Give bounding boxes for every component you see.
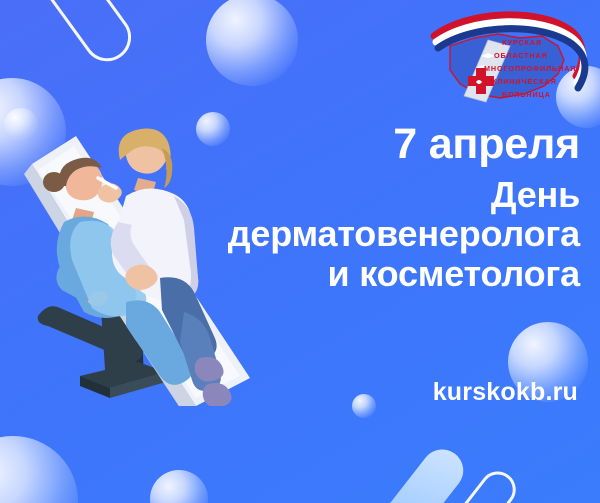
capsule-fill-bottom: [346, 441, 471, 503]
logo-line-1: КУРСКАЯ: [502, 38, 542, 47]
capsule-outline-top: [19, 0, 140, 71]
bubble-bottom-left: [0, 436, 78, 503]
website-url[interactable]: kurskokb.ru: [433, 378, 578, 407]
headline-block: 7 апреля День дерматовенеролога и космет…: [150, 122, 580, 292]
patient-hair-bun: [43, 172, 65, 192]
hospital-logo: КУРСКАЯ ОБЛАСТНАЯ МНОГОПРОФИЛЬНАЯ КЛИНИЧ…: [424, 8, 592, 112]
logo-line-5: БОЛЬНИЦА: [502, 90, 551, 99]
bubble-top-mid: [206, 0, 298, 86]
logo-line-2: ОБЛАСТНАЯ: [494, 51, 548, 60]
headline-line-3: и косметолога: [150, 255, 580, 292]
bubble-bottom-right: [352, 394, 376, 418]
headline-date: 7 апреля: [150, 122, 580, 167]
logo-line-4: КЛИНИЧЕСКАЯ: [492, 77, 557, 86]
banner-canvas: КУРСКАЯ ОБЛАСТНАЯ МНОГОПРОФИЛЬНАЯ КЛИНИЧ…: [0, 0, 600, 503]
headline-line-2: дерматовенеролога: [150, 215, 580, 252]
logo-line-3: МНОГОПРОФИЛЬНАЯ: [484, 64, 576, 73]
bubble-bottom-mid: [150, 470, 208, 503]
headline-line-1: День: [150, 176, 580, 213]
